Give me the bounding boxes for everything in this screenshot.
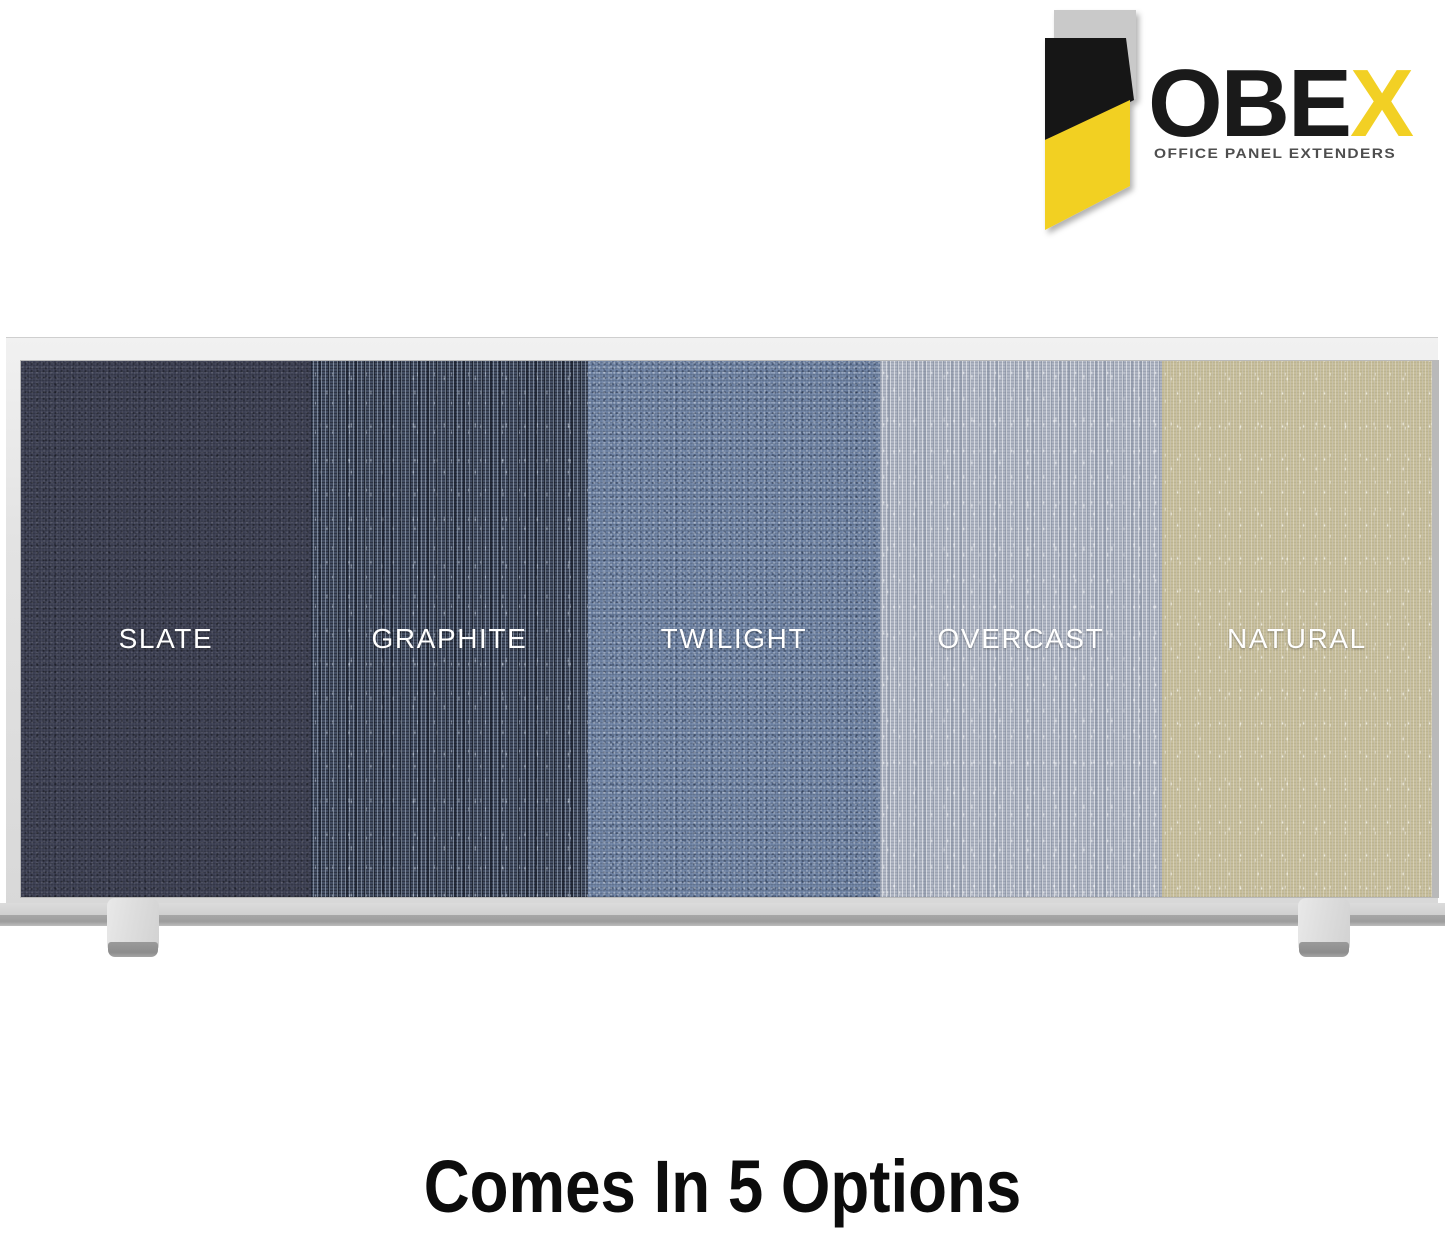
mount-clip-left-foot bbox=[108, 942, 158, 957]
obex-wordmark: OBEX OFFICE PANEL EXTENDERS bbox=[1148, 56, 1438, 186]
panel-frame: SLATE GRAPHITE TWILIGHT OVERCAST bbox=[6, 337, 1438, 917]
mount-clip-left bbox=[107, 898, 159, 960]
wordmark-x: X bbox=[1350, 50, 1412, 157]
swatch-twilight: TWILIGHT bbox=[588, 361, 880, 897]
swatch-overcast: OVERCAST bbox=[880, 361, 1162, 897]
brand-tagline: OFFICE PANEL EXTENDERS bbox=[1154, 146, 1396, 163]
obex-chevron-mark-icon bbox=[1030, 8, 1160, 243]
wordmark-obe: OBE bbox=[1148, 50, 1350, 157]
mount-clip-right bbox=[1298, 898, 1350, 960]
brand-logo: OBEX OFFICE PANEL EXTENDERS bbox=[1030, 8, 1435, 248]
swatch-label-graphite: GRAPHITE bbox=[311, 623, 588, 655]
mount-clip-right-foot bbox=[1299, 942, 1349, 957]
swatch-graphite: GRAPHITE bbox=[311, 361, 588, 897]
swatch-label-natural: NATURAL bbox=[1162, 623, 1432, 655]
fabric-swatch-strip: SLATE GRAPHITE TWILIGHT OVERCAST bbox=[21, 361, 1432, 897]
frame-bottom-shadow bbox=[0, 915, 1445, 926]
swatch-slate: SLATE bbox=[21, 361, 311, 897]
product-caption: Comes In 5 Options bbox=[101, 1150, 1344, 1224]
swatch-label-twilight: TWILIGHT bbox=[588, 623, 880, 655]
wordmark-letters: OBEX bbox=[1148, 56, 1412, 152]
panel-extender-product: SLATE GRAPHITE TWILIGHT OVERCAST bbox=[0, 330, 1445, 990]
swatch-label-slate: SLATE bbox=[21, 623, 311, 655]
swatch-natural: NATURAL bbox=[1162, 361, 1432, 897]
swatch-label-overcast: OVERCAST bbox=[880, 623, 1162, 655]
